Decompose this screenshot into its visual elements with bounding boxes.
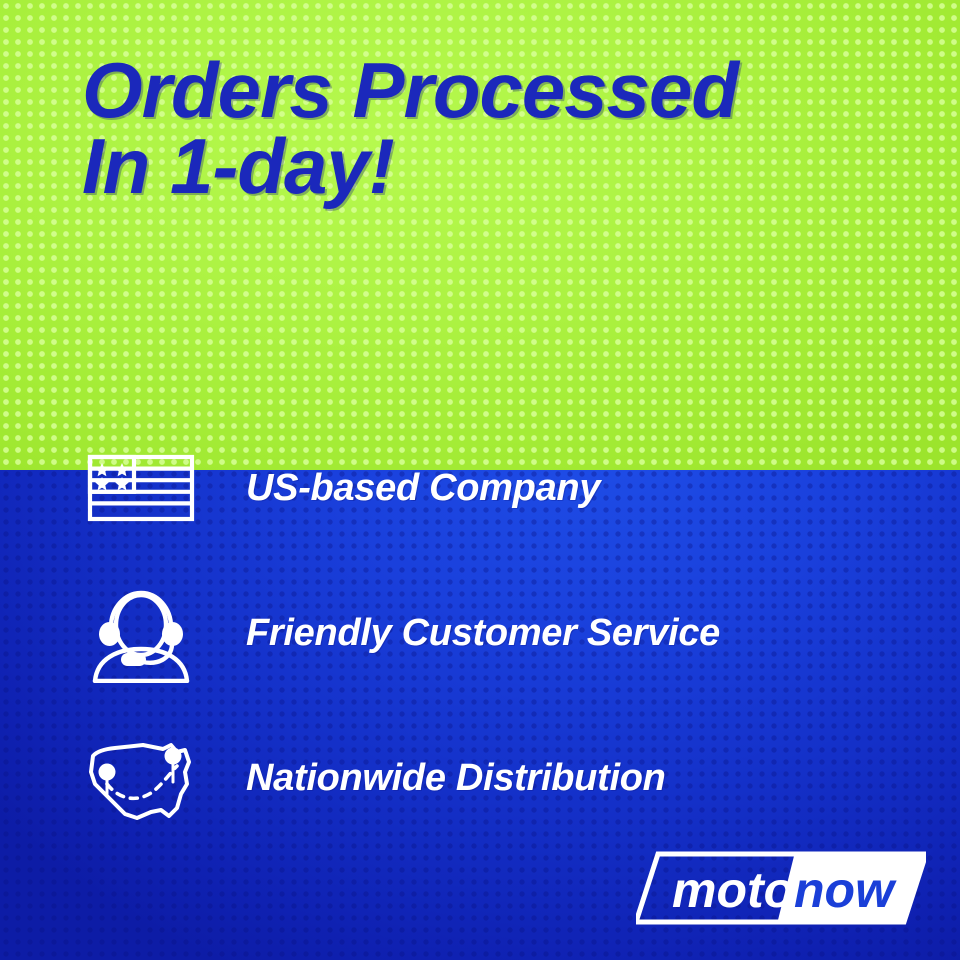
- feature-item-customer-service: Friendly Customer Service: [78, 585, 908, 730]
- feature-list: US-based Company: [78, 440, 908, 875]
- headline: Orders Processed In 1-day!: [82, 52, 912, 205]
- logo-text-moto: moto: [672, 862, 794, 918]
- us-flag-icon: [78, 440, 203, 536]
- motonow-logo: moto now: [636, 848, 926, 928]
- feature-item-us-based: US-based Company: [78, 440, 908, 585]
- feature-label: Friendly Customer Service: [246, 585, 720, 681]
- promo-graphic: Orders Processed In 1-day!: [0, 0, 960, 960]
- logo-text-now: now: [794, 862, 897, 918]
- feature-label: US-based Company: [246, 440, 600, 536]
- us-map-route-icon: [78, 730, 203, 826]
- headset-agent-icon: [78, 585, 203, 681]
- feature-label: Nationwide Distribution: [246, 730, 666, 826]
